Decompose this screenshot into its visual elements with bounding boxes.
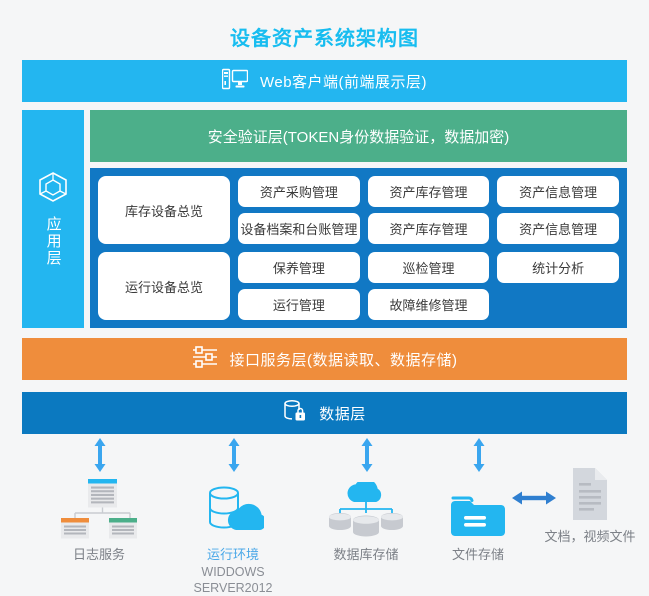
module-lead-card[interactable]: 库存设备总览 bbox=[98, 176, 230, 244]
module-group: 库存设备总览 资产采购管理 资产库存管理 资产信息管理 设备档案和台账管理 资产… bbox=[98, 176, 619, 244]
infra-node-label: 数据库存储 bbox=[308, 546, 424, 564]
module-card[interactable]: 资产库存管理 bbox=[368, 213, 490, 244]
desktop-computer-icon bbox=[222, 68, 248, 94]
layer-interface-service-label: 接口服务层(数据读取、数据存储) bbox=[230, 349, 458, 370]
module-card[interactable]: 资产信息管理 bbox=[497, 213, 619, 244]
module-row: 设备档案和台账管理 资产库存管理 资产信息管理 bbox=[238, 213, 619, 244]
architecture-diagram: 设备资产系统架构图 Web客户端(前端展示层) bbox=[0, 0, 649, 596]
double-arrow-vertical-icon bbox=[227, 438, 239, 472]
module-row: 运行管理 故障维修管理 bbox=[238, 289, 619, 320]
module-card[interactable]: 资产库存管理 bbox=[368, 176, 490, 207]
layer-security-label: 安全验证层(TOKEN身份数据验证，数据加密) bbox=[208, 126, 509, 147]
layer-data: 数据层 bbox=[22, 392, 627, 434]
layer-security: 安全验证层(TOKEN身份数据验证，数据加密) bbox=[90, 110, 627, 162]
layer-data-label: 数据层 bbox=[319, 403, 366, 424]
module-panel: 库存设备总览 资产采购管理 资产库存管理 资产信息管理 设备档案和台账管理 资产… bbox=[90, 168, 627, 328]
infrastructure-row: 日志服务 运行环境 WIDDOWSSERVER2012 bbox=[0, 438, 649, 596]
module-group: 运行设备总览 保养管理 巡检管理 统计分析 运行管理 故障维修管理 bbox=[98, 252, 619, 320]
infra-node-label: 日志服务 bbox=[28, 546, 170, 564]
module-row: 资产采购管理 资产库存管理 资产信息管理 bbox=[238, 176, 619, 207]
infra-node-label: 运行环境 bbox=[172, 546, 294, 564]
infra-node-log-service: 日志服务 bbox=[28, 438, 170, 564]
module-card[interactable]: 资产采购管理 bbox=[238, 176, 360, 207]
layer-interface-service: 接口服务层(数据读取、数据存储) bbox=[22, 338, 627, 380]
page-title: 设备资产系统架构图 bbox=[0, 22, 649, 51]
module-card[interactable]: 资产信息管理 bbox=[497, 176, 619, 207]
module-card[interactable]: 统计分析 bbox=[497, 252, 619, 283]
infra-node-label: 文档，视频文件 bbox=[536, 528, 644, 546]
module-lead-card[interactable]: 运行设备总览 bbox=[98, 252, 230, 320]
infra-node-label: 文件存储 bbox=[432, 546, 524, 564]
module-card-empty bbox=[497, 289, 619, 320]
module-card[interactable]: 运行管理 bbox=[238, 289, 360, 320]
sliders-icon bbox=[192, 346, 218, 372]
document-tree-icon bbox=[28, 478, 170, 540]
module-card[interactable]: 设备档案和台账管理 bbox=[238, 213, 360, 244]
database-lock-icon bbox=[283, 399, 307, 427]
module-card[interactable]: 故障维修管理 bbox=[368, 289, 490, 320]
layer-web-client: Web客户端(前端展示层) bbox=[22, 60, 627, 102]
module-card[interactable]: 巡检管理 bbox=[368, 252, 490, 283]
cube-icon bbox=[38, 171, 68, 208]
double-arrow-vertical-icon bbox=[472, 438, 484, 472]
infra-node-sublabel: WIDDOWSSERVER2012 bbox=[172, 564, 294, 596]
layer-application: 应用层 安全验证层(TOKEN身份数据验证，数据加密) 库存设备总览 资产采购管… bbox=[22, 110, 627, 328]
infra-node-documents: 文档，视频文件 bbox=[536, 460, 644, 546]
double-arrow-vertical-icon bbox=[360, 438, 372, 472]
cloud-databases-icon bbox=[308, 478, 424, 540]
database-cloud-icon bbox=[172, 478, 294, 540]
application-layer-sidebar: 应用层 bbox=[22, 110, 84, 328]
module-row: 保养管理 巡检管理 统计分析 bbox=[238, 252, 619, 283]
module-card[interactable]: 保养管理 bbox=[238, 252, 360, 283]
application-layer-label: 应用层 bbox=[44, 216, 61, 267]
file-document-icon bbox=[536, 460, 644, 522]
infra-node-runtime-environment: 运行环境 WIDDOWSSERVER2012 bbox=[172, 438, 294, 596]
layer-web-client-label: Web客户端(前端展示层) bbox=[260, 71, 427, 92]
double-arrow-vertical-icon bbox=[93, 438, 105, 472]
infra-node-database-storage: 数据库存储 bbox=[308, 438, 424, 564]
